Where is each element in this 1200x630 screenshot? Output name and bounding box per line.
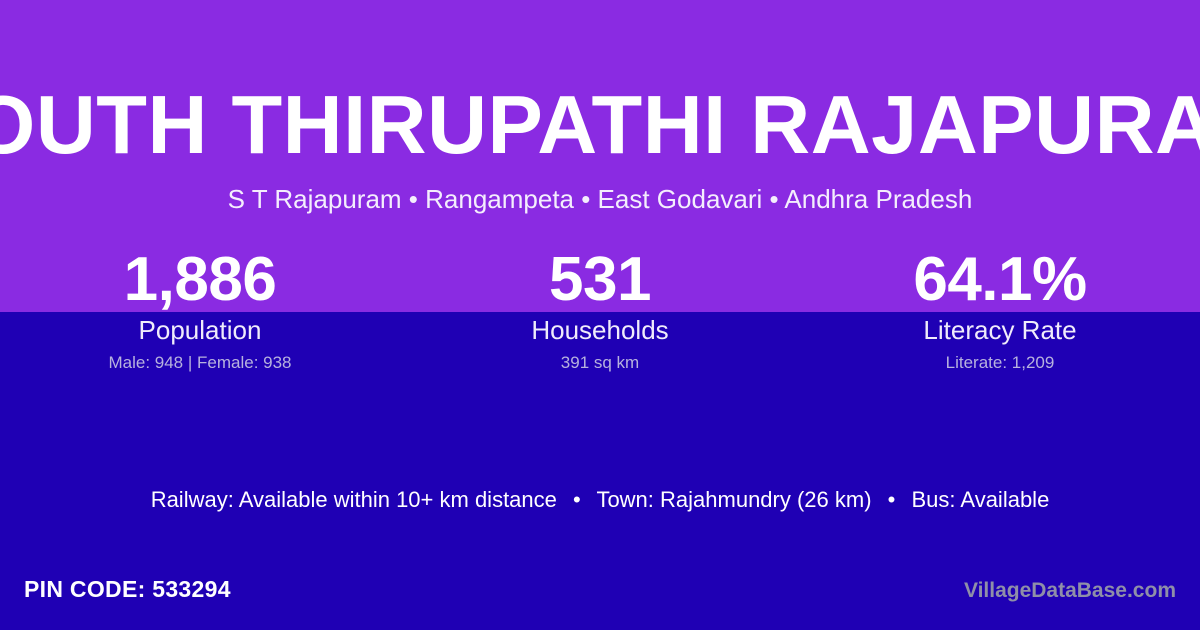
amenity-railway: Railway: Available within 10+ km distanc… <box>151 487 557 512</box>
amenities-row: Railway: Available within 10+ km distanc… <box>0 485 1200 515</box>
village-info-card: SOUTH THIRUPATHI RAJAPURAM S T Rajapuram… <box>0 0 1200 630</box>
stat-detail-households: 391 sq km <box>400 352 800 374</box>
amenity-bus: Bus: Available <box>912 487 1050 512</box>
stat-literacy-rate: 64.1% Literacy Rate Literate: 1,209 <box>800 248 1200 374</box>
breadcrumb: S T Rajapuram • Rangampeta • East Godava… <box>0 183 1200 215</box>
stat-detail-population: Male: 948 | Female: 938 <box>0 352 400 374</box>
amenity-separator-2: • <box>878 485 906 515</box>
stats-row: 1,886 Population Male: 948 | Female: 938… <box>0 248 1200 374</box>
amenity-separator-1: • <box>563 485 591 515</box>
stat-households: 531 Households 391 sq km <box>400 248 800 374</box>
page-title: SOUTH THIRUPATHI RAJAPURAM <box>0 78 1200 172</box>
stat-value-households: 531 <box>400 248 800 312</box>
stat-label-population: Population <box>0 314 400 346</box>
stat-value-population: 1,886 <box>0 248 400 312</box>
site-watermark: VillageDataBase.com <box>964 576 1176 606</box>
pin-code-label: PIN CODE: 533294 <box>24 572 231 606</box>
stat-population: 1,886 Population Male: 948 | Female: 938 <box>0 248 400 374</box>
stat-detail-literacy-rate: Literate: 1,209 <box>800 352 1200 374</box>
stat-label-literacy-rate: Literacy Rate <box>800 314 1200 346</box>
amenity-town: Town: Rajahmundry (26 km) <box>596 487 871 512</box>
stat-label-households: Households <box>400 314 800 346</box>
card-footer: PIN CODE: 533294 VillageDataBase.com <box>0 572 1200 612</box>
stat-value-literacy-rate: 64.1% <box>800 248 1200 312</box>
